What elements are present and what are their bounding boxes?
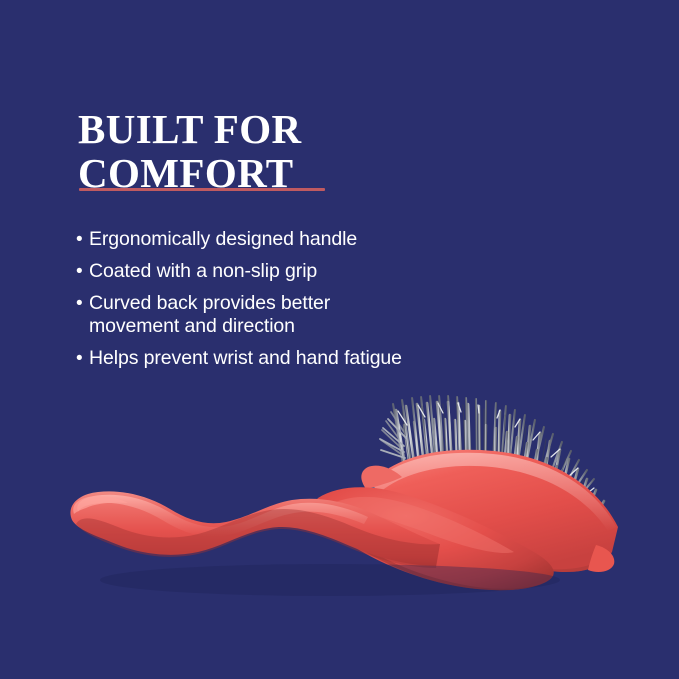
bullet-point-icon: • [76, 292, 89, 315]
bullet-point-icon: • [76, 228, 89, 251]
list-item-label: Ergonomically designed handle [89, 228, 496, 251]
feature-list: • Ergonomically designed handle • Coated… [76, 228, 496, 379]
promo-graphic: BUILT FOR COMFORT • Ergonomically design… [0, 0, 679, 679]
list-item: • Ergonomically designed handle [76, 228, 496, 251]
list-item: • Coated with a non-slip grip [76, 260, 496, 283]
bullet-point-icon: • [76, 260, 89, 283]
list-item-label: Curved back provides better movement and… [89, 292, 496, 338]
list-item-label: Coated with a non-slip grip [89, 260, 496, 283]
list-item: • Curved back provides better movement a… [76, 292, 496, 338]
list-item: • Helps prevent wrist and hand fatigue [76, 347, 496, 370]
bullet-point-icon: • [76, 347, 89, 370]
title-divider-rule [79, 188, 325, 191]
list-item-label: Helps prevent wrist and hand fatigue [89, 347, 496, 370]
page-title: BUILT FOR COMFORT [78, 107, 508, 195]
